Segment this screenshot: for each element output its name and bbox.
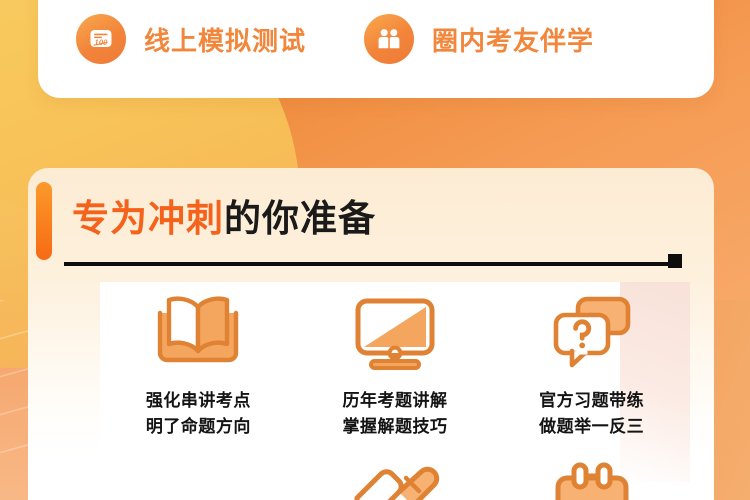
feature-item-notes[interactable] [305,458,485,500]
calendar-icon [544,458,640,500]
feature-label-line1: 强化串讲考点 [146,388,251,414]
score-100-card-icon: 100 [76,14,126,64]
pencil-eraser-icon [347,458,443,500]
feature-label-line2: 掌握解题技巧 [342,414,447,440]
top-item-label: 线上模拟测试 [144,21,306,58]
promo-page: 100 线上模拟测试 圈内考友伴学 [0,0,750,500]
top-feature-card: 100 线上模拟测试 圈内考友伴学 [38,0,714,98]
features-row-primary: 强化串讲考点 明了命题方向 [100,282,690,439]
open-book-icon [150,282,246,382]
monitor-icon [345,282,445,382]
feature-item-schedule[interactable] [502,458,682,500]
features-panel: 强化串讲考点 明了命题方向 [100,282,690,500]
two-people-icon [364,14,414,64]
feature-label-line1: 历年考题讲解 [342,388,447,414]
feature-label-line1: 官方习题带练 [539,388,644,414]
top-item-study-buddies[interactable]: 圈内考友伴学 [364,14,594,64]
feature-label: 官方习题带练 做题举一反三 [539,388,644,439]
features-row-secondary [100,458,690,500]
main-content-card: 专为冲刺的你准备 强化串讲 [28,168,714,500]
question-chat-icon [542,282,642,382]
section-divider-line [64,262,678,266]
page-title-highlight: 专为冲刺 [72,198,224,239]
feature-label: 历年考题讲解 掌握解题技巧 [342,388,447,439]
section-accent-bar [36,182,52,260]
feature-label-line2: 做题举一反三 [539,414,644,440]
page-title-rest: 的你准备 [224,198,376,239]
section-divider-end-square [668,254,682,268]
feature-item-practice-drills[interactable]: 官方习题带练 做题举一反三 [502,282,682,439]
top-item-label: 圈内考友伴学 [432,21,594,58]
feature-label-line2: 明了命题方向 [146,414,251,440]
feature-item-key-points[interactable]: 强化串讲考点 明了命题方向 [108,282,288,439]
feature-label: 强化串讲考点 明了命题方向 [146,388,251,439]
page-title: 专为冲刺的你准备 [72,188,376,242]
top-item-online-mock-test[interactable]: 100 线上模拟测试 [76,14,306,64]
top-feature-row: 100 线上模拟测试 圈内考友伴学 [38,14,714,64]
svg-text:100: 100 [95,37,109,47]
feature-item-past-papers[interactable]: 历年考题讲解 掌握解题技巧 [305,282,485,439]
